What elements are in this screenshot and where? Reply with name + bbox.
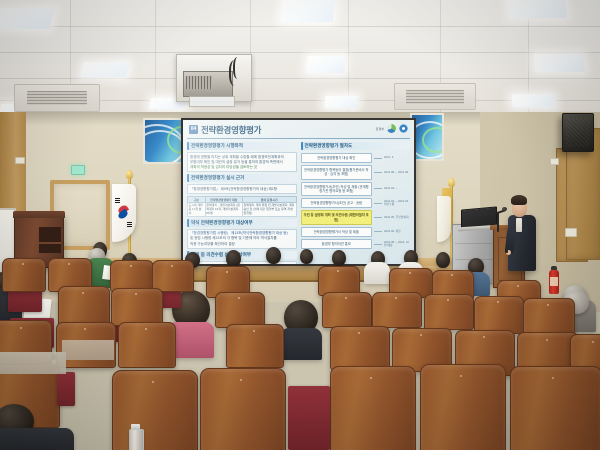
wall-notice-card <box>565 228 577 237</box>
flow-row: 주민 등 설명회 개최 및 의견수렴 (재협의절차 포함) 2022.05. 주… <box>301 210 411 224</box>
flow-connector <box>374 158 382 159</box>
flow-row: 전략환경영향평가서(초안) 공고 · 공람 2022.03. ~ 2022.04… <box>301 198 411 208</box>
floor <box>62 340 114 360</box>
slide-number-badge: 04 <box>189 125 198 134</box>
flow-connector <box>374 188 382 189</box>
flow-step: 전략환경영향평가 대상 확인 <box>301 153 373 163</box>
microphone-head <box>502 207 507 211</box>
body-line: 적용 가능여부를 확인하여 결정 <box>190 242 294 247</box>
seat-cushion <box>288 386 330 450</box>
organization-flag <box>437 196 451 242</box>
auditorium-seat[interactable] <box>510 366 600 450</box>
section-body: 「환경영향평가법 시행령」 제13조(약식전략환경영향평가 대상 등) 및 동법… <box>187 229 297 249</box>
floor <box>0 352 66 374</box>
attendee-head <box>300 249 313 264</box>
attendee-body <box>364 262 390 284</box>
ceiling-light <box>325 96 358 108</box>
attendee-head <box>436 252 450 268</box>
body-line: 계획의 적정성 및 입지의 타당성을 검토하는 것 <box>190 165 294 170</box>
section-heading: 전략환경영향평가 시행목적 <box>187 142 297 150</box>
flow-connector <box>374 244 382 245</box>
section-body: 「환경영향평가법 시행령」 제15조(의견수렴 대상 및 방법)에 따라 정책계… <box>187 261 297 264</box>
presentation-clicker[interactable] <box>505 248 508 253</box>
flow-date: 2022.02. ~ <box>384 187 410 190</box>
auditorium-seat[interactable] <box>474 296 524 334</box>
flow-row: 전략환경영향평가서(초안) 작성 및 제출 (관계행정기관 협의요청 등 포함)… <box>301 182 411 196</box>
section-heading: 전략환경영향평가 실시 근거 <box>187 174 297 182</box>
ceiling-light <box>507 0 567 18</box>
flow-date: 2022.03. ~ 2022.04. 의견수렴 <box>384 200 410 207</box>
table-cell: 도시의 개발 등 17개 분야 <box>188 203 206 216</box>
ministry-logo-icon <box>399 124 408 133</box>
flow-date: 2022.06. 제출 <box>384 230 410 233</box>
criteria-table: 구분 전략환경영향평가 대상 협의 요청시기 도시의 개발 등 17개 분야 정… <box>187 196 297 217</box>
section-heading: 약식 전략환경영향평가 대상여부 <box>187 219 297 227</box>
flow-date: 2021. 6. <box>384 156 410 159</box>
auditorium-seat[interactable] <box>330 366 416 450</box>
auditorium-seat[interactable] <box>58 286 110 326</box>
flow-step: 환경부 협의의견 통보 <box>301 239 373 249</box>
ceiling-light <box>533 54 585 72</box>
presenter-shirt <box>516 218 522 232</box>
ceiling-light <box>511 94 554 107</box>
auditorium-seat[interactable] <box>424 294 474 330</box>
attendee-head <box>266 247 281 264</box>
attendee-body <box>280 328 322 360</box>
conference-room-photo: 04 전략환경영향평가 환경부 전략환경영향평가 시행목적 <box>0 0 600 450</box>
air-conditioner-vent <box>14 84 100 112</box>
flow-connector <box>374 217 382 218</box>
fire-extinguisher <box>549 270 559 294</box>
slide-body: 전략환경영향평가 시행목적 환경에 영향을 미치는 상위 계획을 수립할 때에 … <box>187 142 410 260</box>
flow-connector <box>374 172 382 173</box>
flow-row: 전략환경영향평가서 작성 및 제출 2022.06. 제출 <box>301 227 411 237</box>
flow-row: 환경부 협의의견 통보 2022.08. ~ 2022. 10월 예정 <box>301 239 411 249</box>
ceiling-light <box>281 0 336 22</box>
attendee-head <box>226 250 241 267</box>
flow-step-highlighted: 주민 등 설명회 개최 및 의견수렴 (재협의절차 포함) <box>301 210 373 224</box>
emergency-exit-sign <box>71 165 85 175</box>
auditorium-seat[interactable] <box>420 364 506 450</box>
microphone-stem <box>497 212 499 232</box>
auditorium-seat[interactable] <box>152 260 194 292</box>
section-body: 「환경영향평가법」 제9조(전략환경영향평가의 대상) 제1항 <box>187 184 297 194</box>
organization-logo-icon <box>387 124 396 133</box>
flow-step: 전략환경영향평가서(초안) 작성 및 제출 (관계행정기관 협의요청 등 포함) <box>301 182 373 196</box>
auditorium-seat[interactable] <box>226 324 284 368</box>
slide-left-column: 전략환경영향평가 시행목적 환경에 영향을 미치는 상위 계획을 수립할 때에 … <box>187 142 297 260</box>
slide-header: 04 전략환경영향평가 환경부 <box>187 123 410 139</box>
presenter-hair <box>511 195 527 205</box>
flow-date: 2022.05. 주민설명회 <box>384 216 410 219</box>
auditorium-seat[interactable] <box>372 292 422 328</box>
flow-row: 전략환경영향평가 대상 확인 2021. 6. <box>301 153 411 163</box>
auditorium-seat[interactable] <box>215 292 265 328</box>
wall-switch-plate <box>15 157 25 164</box>
process-flowchart: 전략환경영향평가 대상 확인 2021. 6. 전략환경영향평가 항목등의 결정… <box>301 153 411 249</box>
auditorium-seat[interactable] <box>200 368 286 450</box>
body-line: 부합여부 확인 및 대안의 설정·분석 등을 통하여 환경적 측면에서 <box>190 160 294 165</box>
body-line: 환경에 영향을 미치는 상위 계획을 수립할 때에 환경보전계획과의 <box>190 155 294 160</box>
air-conditioner-vent <box>394 83 476 110</box>
flow-step: 전략환경영향평가서(초안) 공고 · 공람 <box>301 198 373 208</box>
section-body: 환경에 영향을 미치는 상위 계획을 수립할 때에 환경보전계획과의 부합여부 … <box>187 152 297 172</box>
attendee-body <box>0 428 74 450</box>
seat-cushion <box>57 372 75 406</box>
auditorium-seat[interactable] <box>330 326 390 370</box>
projection-screen: 04 전략환경영향평가 환경부 전략환경영향평가 시행목적 <box>181 118 416 266</box>
auditorium-seat[interactable] <box>112 370 198 450</box>
water-bottle[interactable] <box>129 429 144 450</box>
slide-logos: 환경부 <box>376 124 408 133</box>
wall-speaker <box>562 113 594 152</box>
table-cell: 정책계획 · 개발기본계획 (정책계획 15개, 개발기본계획 85개) <box>205 203 242 216</box>
ceiling-projector <box>176 54 252 102</box>
body-line: 「환경영향평가법」 제9조(전략환경영향평가의 대상) 제1항 <box>190 187 294 192</box>
wall-outlet-plate <box>550 158 559 165</box>
ceiling-light <box>80 62 130 77</box>
auditorium-seat[interactable] <box>2 258 46 292</box>
slide-right-column: 전략환경영향평가 절차도 전략환경영향평가 대상 확인 2021. 6. 전략환… <box>301 142 411 260</box>
ceiling-light <box>0 8 55 29</box>
flow-date: 2022.08. ~ 2022. 10월 예정 <box>384 241 410 248</box>
flow-heading: 전략환경영향평가 절차도 <box>301 142 411 150</box>
logo-caption: 환경부 <box>376 127 384 131</box>
flow-row: 전략환경영향평가 항목등의 결정(평가준비서 작성 · 심의 등 포함) 202… <box>301 165 411 179</box>
slide-title: 전략환경영향평가 <box>201 124 261 136</box>
attendee-head <box>332 250 346 266</box>
ceiling-light <box>306 56 345 73</box>
table-cell: 정책계획: 계획 확정 전 개발기본계획: 계획 승인 전 (협의기관: 환경부… <box>242 203 296 216</box>
flow-connector <box>374 203 382 204</box>
auditorium-seat[interactable] <box>322 292 372 328</box>
ceiling <box>0 0 600 118</box>
flow-step: 전략환경영향평가 항목등의 결정(평가준비서 작성 · 심의 등 포함) <box>301 165 373 179</box>
auditorium-seat[interactable] <box>118 322 176 368</box>
presentation-slide: 04 전략환경영향평가 환경부 전략환경영향평가 시행목적 <box>183 120 414 264</box>
flow-step: 전략환경영향평가서 작성 및 제출 <box>301 227 373 237</box>
flow-connector <box>374 231 382 232</box>
auditorium-seat[interactable] <box>111 288 163 326</box>
table-row: 도시의 개발 등 17개 분야 정책계획 · 개발기본계획 (정책계획 15개,… <box>188 203 297 216</box>
flow-date: 2021.08. ~ 2021.09. <box>384 171 410 174</box>
